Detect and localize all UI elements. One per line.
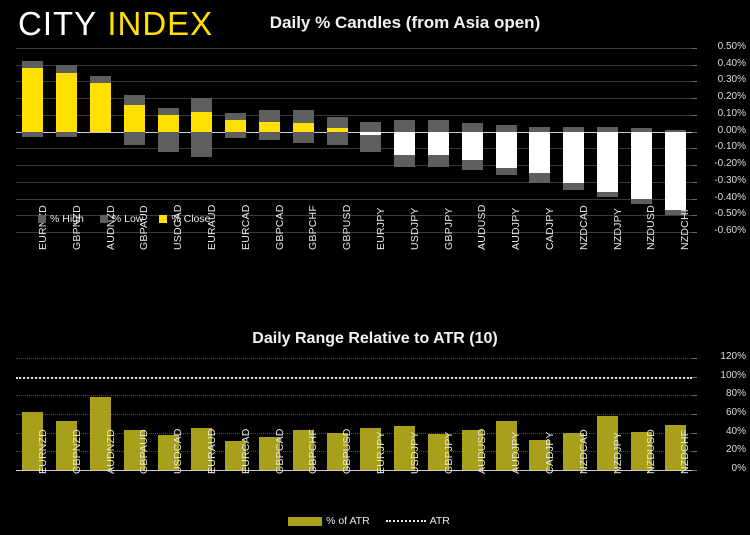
y-axis-label: -0.30% <box>700 175 746 186</box>
gridline <box>16 232 692 233</box>
candle-body <box>124 105 145 132</box>
x-axis-label: NZDCHF <box>679 430 691 474</box>
y-axis-label: 0.10% <box>700 108 746 119</box>
y-axis-label: -0.40% <box>700 192 746 203</box>
x-axis-label: USDJPY <box>409 431 421 474</box>
candle[interactable] <box>597 48 618 232</box>
x-axis-label: GBPJPY <box>443 207 455 250</box>
y-axis-label: -0.50% <box>700 208 746 219</box>
candle-body <box>597 132 618 192</box>
dashboard-root: CITY INDEX Daily % Candles (from Asia op… <box>0 0 750 535</box>
header: CITY INDEX Daily % Candles (from Asia op… <box>0 0 750 46</box>
x-axis-label: NZDJPY <box>612 208 624 250</box>
candle-body <box>394 132 415 155</box>
y-tick <box>692 232 697 233</box>
x-axis-label: GBPJPY <box>443 431 455 474</box>
y-axis-label: 0.00% <box>700 125 746 136</box>
x-axis-label: EURNZD <box>37 429 49 474</box>
gridline <box>16 48 692 49</box>
x-axis-label: AUDNZD <box>105 205 117 250</box>
y-tick <box>692 65 697 66</box>
candle-body <box>360 132 381 135</box>
x-axis-label: AUDUSD <box>476 428 488 474</box>
gridline <box>16 358 692 359</box>
y-tick <box>692 470 697 471</box>
axis-baseline <box>16 470 692 471</box>
y-tick <box>692 48 697 49</box>
y-tick <box>692 451 697 452</box>
candle-body <box>529 132 550 174</box>
x-axis-label: EURCAD <box>240 428 252 474</box>
y-axis-label: 40% <box>700 426 746 437</box>
candle-body <box>90 83 111 132</box>
x-axis-label: GBPCAD <box>274 204 286 250</box>
candle-range <box>360 122 381 152</box>
x-axis-label: GBPNZD <box>71 429 83 474</box>
y-axis-label: -0.20% <box>700 158 746 169</box>
legend-swatch-icon <box>100 215 108 223</box>
y-axis-label: -0.60% <box>700 225 746 236</box>
gridline <box>16 98 692 99</box>
atr-chart <box>16 358 692 470</box>
candle-chart <box>16 48 692 232</box>
x-axis-label: NZDCAD <box>578 205 590 250</box>
gridline <box>16 65 692 66</box>
x-axis-label: USDJPY <box>409 207 421 250</box>
gridline <box>16 165 692 166</box>
y-tick <box>692 414 697 415</box>
x-axis-label: EURAUD <box>206 204 218 250</box>
legend-item-close: % Close <box>159 213 210 225</box>
y-tick <box>692 358 697 359</box>
legend-label: ATR <box>430 515 450 527</box>
y-tick <box>692 377 697 378</box>
x-axis-label: USDCAD <box>172 204 184 250</box>
candle-body <box>462 132 483 160</box>
candle-body <box>563 132 584 184</box>
x-axis-label: EURCAD <box>240 204 252 250</box>
y-tick <box>692 81 697 82</box>
gridline <box>16 81 692 82</box>
x-axis-label: GBPAUD <box>138 429 150 474</box>
y-tick <box>692 115 697 116</box>
legend-label: % High <box>50 213 84 225</box>
y-axis-label: 20% <box>700 444 746 455</box>
candle-body <box>665 132 686 211</box>
legend-label: % Close <box>171 213 210 225</box>
legend-item-pct_atr: % of ATR <box>288 515 370 527</box>
atr-chart-legend: % of ATRATR <box>0 515 750 527</box>
y-axis-label: 80% <box>700 388 746 399</box>
y-axis-label: 0% <box>700 463 746 474</box>
x-axis-label: AUDNZD <box>105 429 117 474</box>
x-axis-label: NZDUSD <box>645 429 657 474</box>
atr-reference-line <box>16 377 692 379</box>
candle-body <box>158 115 179 132</box>
x-axis-label: GBPCHF <box>307 205 319 250</box>
candle-body <box>259 122 280 132</box>
legend-swatch-icon <box>38 215 46 223</box>
zero-axis-line <box>16 132 692 133</box>
y-tick <box>692 165 697 166</box>
x-axis-label: GBPCAD <box>274 428 286 474</box>
candle[interactable] <box>428 48 449 232</box>
y-axis-label: 0.20% <box>700 91 746 102</box>
legend-item-low: % Low <box>100 213 144 225</box>
candle-body <box>191 112 212 132</box>
y-tick <box>692 98 697 99</box>
x-axis-label: EURJPY <box>375 207 387 250</box>
x-axis-label: EURAUD <box>206 428 218 474</box>
legend-label: % Low <box>112 213 144 225</box>
chart1-title: Daily % Candles (from Asia open) <box>270 13 540 33</box>
candle-body <box>428 132 449 155</box>
y-axis-label: 120% <box>700 351 746 362</box>
chart2-title: Daily Range Relative to ATR (10) <box>0 330 750 348</box>
y-axis-label: 0.50% <box>700 41 746 52</box>
y-tick <box>692 132 697 133</box>
candle-body <box>293 123 314 131</box>
x-axis-label: GBPUSD <box>341 204 353 250</box>
candle-chart-legend: % High% Low% Close <box>38 213 222 225</box>
y-axis-label: -0.10% <box>700 141 746 152</box>
y-tick <box>692 182 697 183</box>
gridline <box>16 182 692 183</box>
x-axis-label: NZDCHF <box>679 206 691 250</box>
gridline <box>16 414 692 415</box>
candle-body <box>631 132 652 199</box>
chart1-title-wrap: Daily % Candles (from Asia open) <box>0 13 750 33</box>
candle-body <box>22 68 43 132</box>
candle[interactable] <box>665 48 686 232</box>
gridline <box>16 451 692 452</box>
candle[interactable] <box>394 48 415 232</box>
legend-item-atr: ATR <box>386 515 450 527</box>
gridline <box>16 199 692 200</box>
gridline <box>16 148 692 149</box>
x-axis-label: GBPUSD <box>341 428 353 474</box>
candle[interactable] <box>529 48 550 232</box>
candle-body <box>327 128 348 131</box>
candle[interactable] <box>360 48 381 232</box>
x-axis-label: EURJPY <box>375 431 387 474</box>
candle[interactable] <box>496 48 517 232</box>
dotted-line-icon <box>386 520 426 522</box>
y-tick <box>692 395 697 396</box>
x-axis-label: AUDUSD <box>476 204 488 250</box>
y-axis-label: 60% <box>700 407 746 418</box>
x-axis-label: USDCAD <box>172 428 184 474</box>
gridline <box>16 115 692 116</box>
legend-swatch-icon <box>159 215 167 223</box>
legend-label: % of ATR <box>326 515 370 527</box>
gridline <box>16 395 692 396</box>
y-tick <box>692 215 697 216</box>
legend-swatch-icon <box>288 517 322 526</box>
candle-body <box>225 120 246 132</box>
x-axis-label: GBPAUD <box>138 205 150 250</box>
gridline <box>16 433 692 434</box>
x-axis-label: NZDUSD <box>645 205 657 250</box>
y-axis-label: 100% <box>700 370 746 381</box>
x-axis-label: EURNZD <box>37 205 49 250</box>
x-axis-label: GBPNZD <box>71 205 83 250</box>
y-axis-label: 0.40% <box>700 58 746 69</box>
candle-body <box>496 132 517 169</box>
x-axis-label: CADJPY <box>544 207 556 250</box>
y-tick <box>692 148 697 149</box>
x-axis-label: GBPCHF <box>307 429 319 474</box>
x-axis-label: NZDCAD <box>578 429 590 474</box>
candle-body <box>56 73 77 132</box>
y-tick <box>692 433 697 434</box>
y-axis-label: 0.30% <box>700 74 746 85</box>
x-axis-label: AUDJPY <box>510 431 522 474</box>
x-axis-label: CADJPY <box>544 431 556 474</box>
y-tick <box>692 199 697 200</box>
x-axis-label: AUDJPY <box>510 207 522 250</box>
x-axis-label: NZDJPY <box>612 432 624 474</box>
legend-item-high: % High <box>38 213 84 225</box>
